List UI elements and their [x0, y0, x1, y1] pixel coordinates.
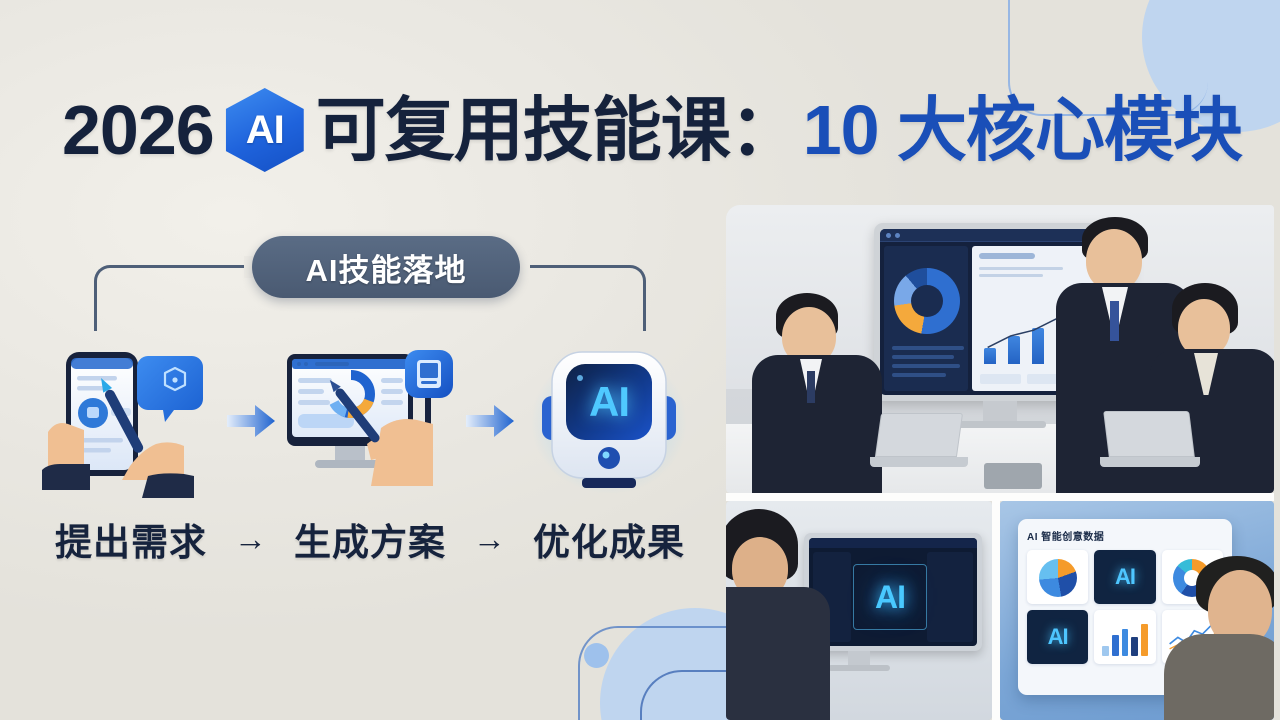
bl-right-panel [927, 552, 973, 642]
ai-badge-label: AI [246, 110, 284, 150]
step-caption-3: 优化成果 [516, 512, 702, 566]
bl-ai-hologram: AI [855, 554, 925, 640]
step-caption-2: 生成方案 [277, 512, 463, 566]
desktop-chart-icon [277, 336, 463, 506]
arrow-right-icon [464, 401, 516, 441]
ai-tile-card-top: AI [1094, 550, 1155, 604]
title-main-dark: 可复用技能课： [316, 95, 799, 165]
ai-tile-label-2: AI [1048, 624, 1068, 650]
br-person-body [1164, 634, 1274, 720]
arrow-step-1-to-2 [225, 401, 277, 441]
bar-chart [1102, 622, 1147, 656]
arrow-step-2-to-3 [464, 401, 516, 441]
ai-hologram-photo: AI [726, 501, 992, 720]
page-title: 2026 AI 可复用技能课： 10 大核心模块 [62, 84, 1242, 176]
bl-imac-monitor: AI [804, 533, 982, 651]
photo-collage: AI AI 智能创意数据 [726, 205, 1274, 720]
pie-chart-card [1027, 550, 1088, 604]
status-badge: AI技能落地 [252, 236, 520, 298]
poster-canvas: 2026 AI 可复用技能课： 10 大核心模块 AI技能落地 [0, 0, 1280, 720]
step-icon-phone-stylus [38, 336, 224, 506]
process-diagram: AI技能落地 [38, 236, 702, 566]
step-caption-row: 提出需求 → 生成方案 → 优化成果 [38, 512, 702, 566]
hologram-cube-icon [853, 564, 927, 630]
bar-chart-card [1094, 610, 1155, 664]
ai-hexagon-badge-icon: AI [226, 88, 304, 172]
bl-titlebar [809, 538, 977, 548]
board-title: AI 智能创意数据 [1027, 528, 1223, 543]
ai-dashboard-wall-photo: AI 智能创意数据 AI AI [1000, 501, 1274, 720]
br-person [1168, 552, 1274, 720]
caption-arrow-2: → [464, 520, 516, 558]
bl-person [726, 509, 824, 720]
arrow-right-icon [225, 401, 277, 441]
monitor-stand-neck [983, 401, 1017, 423]
title-year: 2026 [62, 95, 214, 165]
phone-stylus-icon [38, 336, 224, 506]
ai-tile-label: AI [1115, 564, 1135, 590]
robot-screen-label: AI [589, 378, 629, 425]
bl-ai-dashboard-screen: AI [809, 538, 977, 646]
decor-dot-bottom-center [584, 643, 609, 668]
step-icon-desktop-chart [277, 336, 463, 506]
ai-robot-icon: AI [516, 336, 702, 506]
pie-chart [1039, 559, 1077, 597]
laptop-left [870, 413, 966, 475]
sidebar-list [892, 346, 960, 382]
title-main-blue: 10 大核心模块 [803, 95, 1242, 165]
monitor-stand-foot [954, 421, 1046, 428]
collage-gap-horizontal [726, 493, 1274, 501]
desk-stand [984, 463, 1042, 489]
ai-tile-card-bottom: AI [1027, 610, 1088, 664]
bl-stand-foot [828, 665, 890, 671]
caption-arrow-1: → [225, 520, 277, 558]
office-meeting-photo [726, 205, 1274, 493]
step-caption-1: 提出需求 [38, 512, 224, 566]
pill-label: AI技能落地 [306, 245, 467, 290]
collage-gap-vertical [992, 501, 1000, 720]
laptop-right [1100, 411, 1200, 475]
donut-chart [894, 268, 960, 334]
step-icon-ai-robot: AI [516, 336, 702, 506]
dashboard-sidebar [884, 246, 968, 391]
step-icon-row: AI [38, 336, 702, 506]
